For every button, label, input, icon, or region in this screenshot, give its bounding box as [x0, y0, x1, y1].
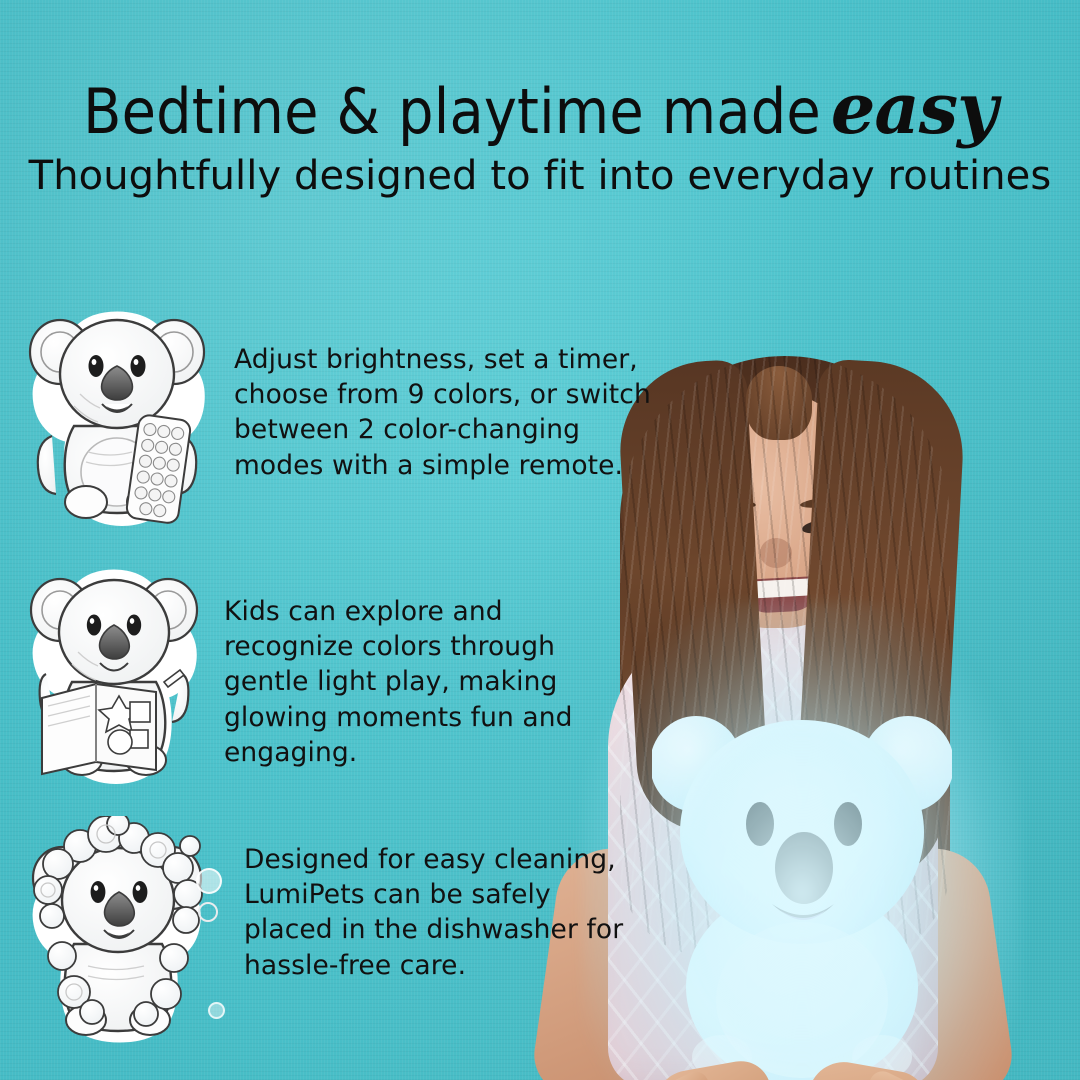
- floating-bubble: [208, 1002, 225, 1019]
- headline-accent: easy: [831, 67, 997, 150]
- koala-with-bubbles-sketch: [18, 816, 218, 1046]
- page-subtitle: Thoughtfully designed to fit into everyd…: [0, 156, 1080, 196]
- koala-with-remote-sketch: [22, 286, 212, 536]
- page-title: Bedtime & playtime madeeasy: [0, 74, 1080, 144]
- feature-text-remote: Adjust brightness, set a timer, choose f…: [234, 286, 651, 483]
- floating-bubble: [196, 868, 222, 894]
- lamp-glow-halo: [582, 602, 1022, 1080]
- headline-plain: Bedtime & playtime made: [83, 75, 821, 148]
- glowing-koala-lamp: [652, 672, 952, 1080]
- feature-text-colors: Kids can explore and recognize colors th…: [224, 552, 573, 770]
- feature-remote-control: Adjust brightness, set a timer, choose f…: [22, 286, 651, 536]
- feature-easy-cleaning: Designed for easy cleaning, LumiPets can…: [18, 816, 623, 1046]
- feature-text-cleaning: Designed for easy cleaning, LumiPets can…: [244, 816, 623, 983]
- header-block: Bedtime & playtime madeeasy Thoughtfully…: [0, 74, 1080, 196]
- koala-reading-book-sketch: [24, 552, 204, 792]
- marketing-image: Bedtime & playtime madeeasy Thoughtfully…: [0, 0, 1080, 1080]
- feature-color-learning: Kids can explore and recognize colors th…: [24, 552, 573, 792]
